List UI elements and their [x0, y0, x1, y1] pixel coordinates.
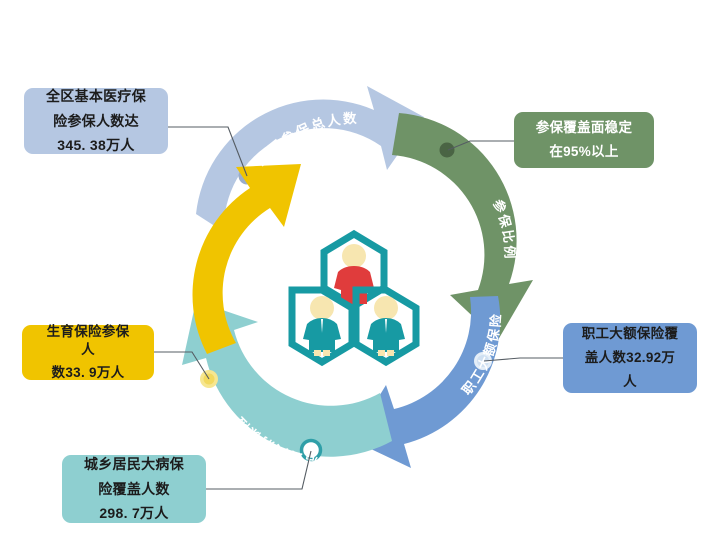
callout-coverage-rate[interactable]: 参保覆盖面稳定 在95%以上 [514, 112, 654, 168]
callout-maternity[interactable]: 生育保险参保人 数33. 9万人 [22, 325, 154, 380]
callout-line: 生育保险参保人 [31, 320, 145, 362]
callout-line: 数33. 9万人 [31, 361, 145, 385]
callout-line: 298. 7万人 [75, 501, 193, 525]
callout-line: 盖人数32.92万 [573, 346, 688, 370]
callout-line: 345. 38万人 [37, 133, 155, 157]
callout-line: 城乡居民大病保 [75, 452, 193, 476]
callout-employee-large[interactable]: 职工大额保险覆 盖人数32.92万 人 [563, 323, 697, 393]
infographic-canvas: 全区参保总人数 参保比例 职工大额保险 城乡居民大病保险 生育保险 [0, 0, 708, 547]
callout-line: 险参保人数达 [37, 109, 155, 133]
callout-line: 险覆盖人数 [75, 477, 193, 501]
callout-line: 参保覆盖面稳定 [527, 116, 642, 140]
callout-line: 人 [573, 370, 688, 394]
callout-resident-serious[interactable]: 城乡居民大病保 险覆盖人数 298. 7万人 [62, 455, 206, 523]
callout-line: 在95%以上 [527, 140, 642, 164]
callout-line: 职工大额保险覆 [573, 322, 688, 346]
hexagon-person-bottom-left [292, 290, 352, 362]
callout-line: 全区基本医疗保 [37, 84, 155, 108]
callout-basic-medical[interactable]: 全区基本医疗保 险参保人数达 345. 38万人 [24, 88, 168, 154]
